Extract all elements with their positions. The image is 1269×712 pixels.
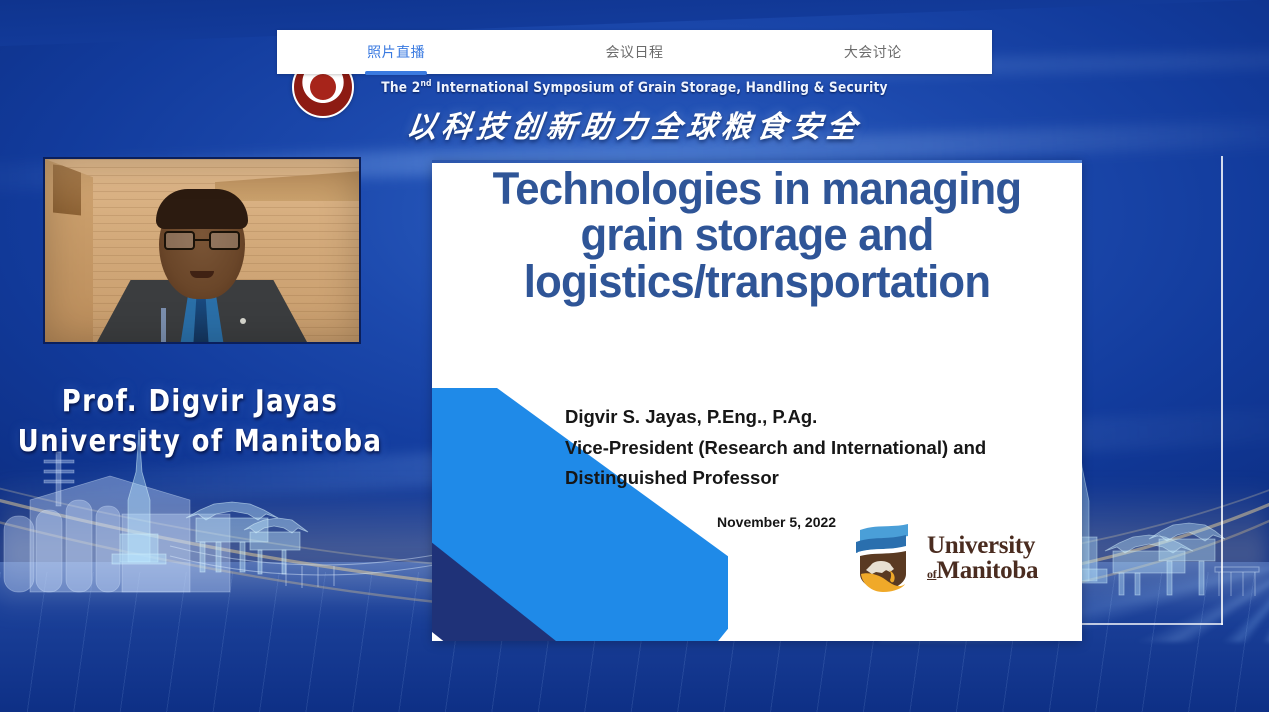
- tab-discussion-label: 大会讨论: [844, 42, 902, 62]
- slide-title: Technologies in managing grain storage a…: [448, 166, 1067, 305]
- tab-photo-live-label: 照片直播: [367, 42, 425, 62]
- university-of-manitoba-wordmark: University ofManitoba: [927, 533, 1038, 583]
- speaker-webcam-feed[interactable]: [43, 157, 361, 344]
- logo-manitoba-text: Manitoba: [936, 557, 1038, 584]
- slide-author-block: Digvir S. Jayas, P.Eng., P.Ag. Vice-Pres…: [565, 402, 1065, 494]
- university-of-manitoba-shield-icon: [850, 522, 918, 594]
- navigation-tab-bar: 照片直播 会议日程 大会讨论: [277, 30, 992, 74]
- logo-of-text: of: [927, 567, 936, 581]
- tab-agenda[interactable]: 会议日程: [515, 30, 753, 74]
- webcam-vignette: [45, 159, 359, 342]
- frame-rule-bottom: [1080, 623, 1223, 625]
- frame-rule-right: [1221, 156, 1223, 625]
- university-of-manitoba-logo: University ofManitoba: [850, 522, 1060, 594]
- slide-date: November 5, 2022: [717, 514, 836, 530]
- tab-photo-live[interactable]: 照片直播: [277, 30, 515, 74]
- broadcast-viewer: The 2nd International Symposium of Grain…: [0, 0, 1269, 712]
- presentation-slide[interactable]: Technologies in managing grain storage a…: [432, 160, 1082, 641]
- slide-author-role-line1: Vice-President (Research and Internation…: [565, 433, 1065, 464]
- active-tab-indicator: [365, 71, 427, 75]
- slide-author-name: Digvir S. Jayas, P.Eng., P.Ag.: [565, 402, 1065, 433]
- tab-discussion[interactable]: 大会讨论: [754, 30, 992, 74]
- slide-author-role-line2: Distinguished Professor: [565, 463, 1065, 494]
- logo-line-university: University: [927, 533, 1038, 558]
- logo-line-manitoba: ofManitoba: [927, 558, 1038, 583]
- tab-agenda-label: 会议日程: [605, 42, 663, 62]
